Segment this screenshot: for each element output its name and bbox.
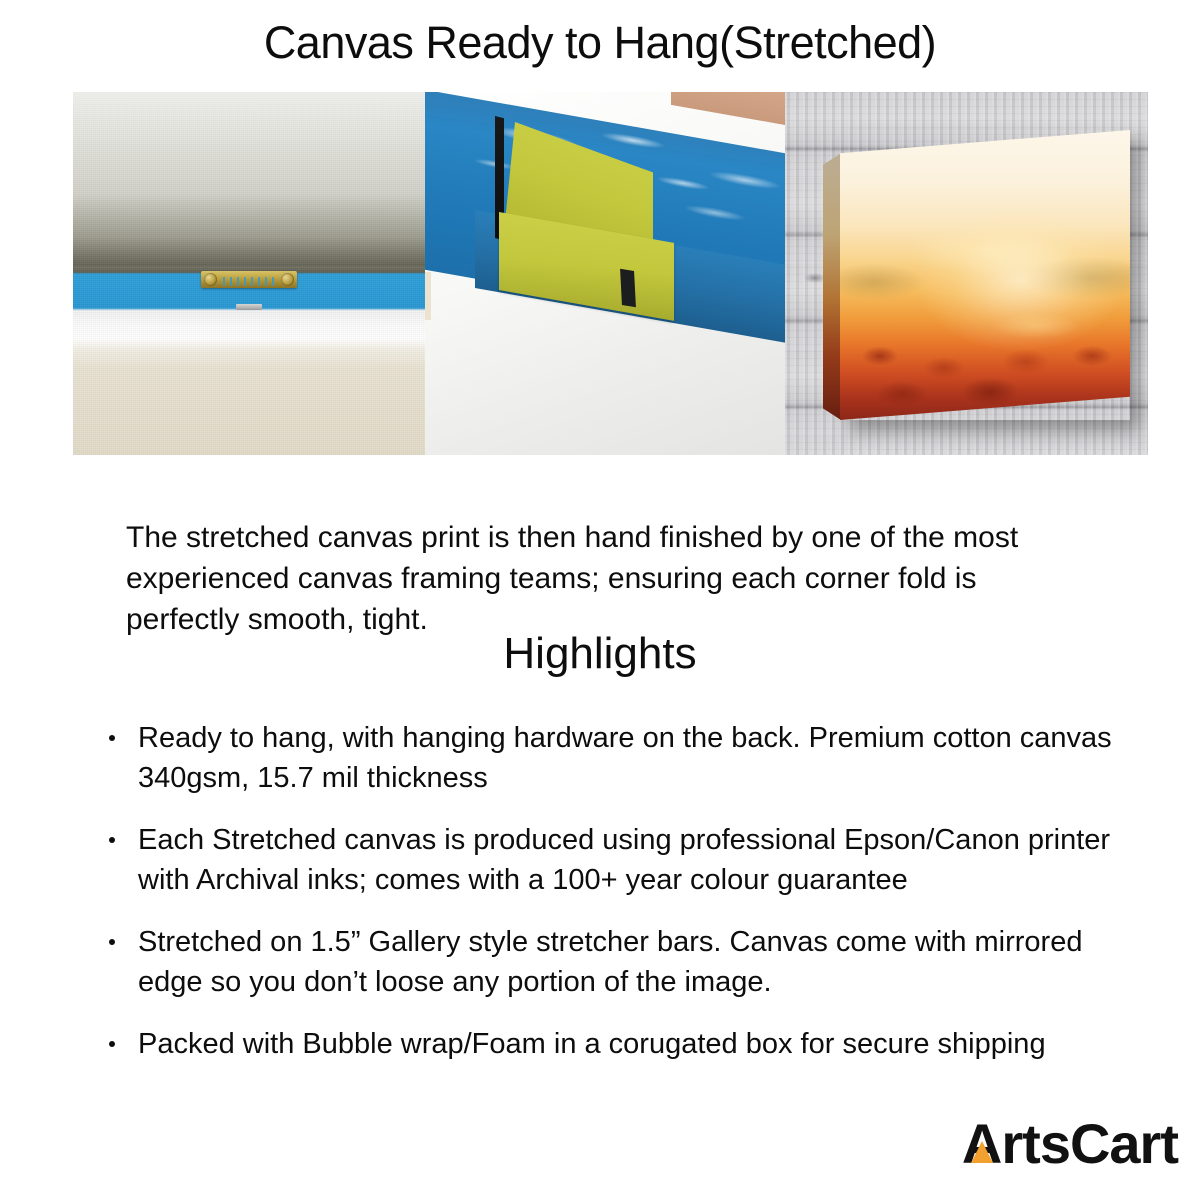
bullet-dot-icon: [109, 939, 115, 945]
logo-text-rest: rtsCart: [1001, 1116, 1178, 1172]
bullet-dot-icon: [109, 837, 115, 843]
list-item: Each Stretched canvas is produced using …: [104, 820, 1114, 900]
hanger-screw-left: [204, 273, 217, 286]
list-item: Ready to hang, with hanging hardware on …: [104, 718, 1114, 798]
bullet-dot-icon: [109, 1041, 115, 1047]
image-corner-fold-detail: [425, 92, 785, 455]
logo-letter-a: A: [962, 1116, 1001, 1172]
sunset-print-foreground: [840, 130, 1130, 420]
image-hung-canvas-sunset: [785, 92, 1148, 455]
list-item: Packed with Bubble wrap/Foam in a coruga…: [104, 1024, 1114, 1064]
canvas-wrapped-edge: [823, 130, 841, 420]
adjacent-canvas-cotton: [425, 272, 431, 320]
list-item-text: Each Stretched canvas is produced using …: [138, 824, 1110, 896]
canvas-back-shading: [73, 92, 425, 266]
canvas-metal-tab: [236, 304, 262, 310]
list-item-text: Packed with Bubble wrap/Foam in a coruga…: [138, 1028, 1046, 1060]
sawtooth-hanger-icon: [201, 270, 297, 290]
intro-paragraph: The stretched canvas print is then hand …: [126, 517, 1076, 640]
hanger-screw-right: [281, 273, 294, 286]
list-item-text: Stretched on 1.5” Gallery style stretche…: [138, 926, 1082, 998]
image-canvas-back-hanging-hardware: [73, 92, 425, 455]
corner-fold-seam: [620, 269, 636, 308]
product-image-strip: [73, 92, 1148, 455]
bullet-dot-icon: [109, 735, 115, 741]
list-item-text: Ready to hang, with hanging hardware on …: [138, 722, 1112, 794]
highlights-list: Ready to hang, with hanging hardware on …: [104, 718, 1114, 1064]
hanger-teeth: [223, 277, 275, 286]
infographic-page: Canvas Ready to Hang(Stretched): [0, 0, 1200, 1200]
list-item: Stretched on 1.5” Gallery style stretche…: [104, 922, 1114, 1002]
highlights-heading: Highlights: [0, 628, 1200, 680]
mounted-canvas: [840, 130, 1130, 420]
orange-triangle-icon: [971, 1141, 993, 1163]
artscart-logo: A rtsCart: [962, 1116, 1178, 1172]
page-title: Canvas Ready to Hang(Stretched): [0, 16, 1200, 70]
